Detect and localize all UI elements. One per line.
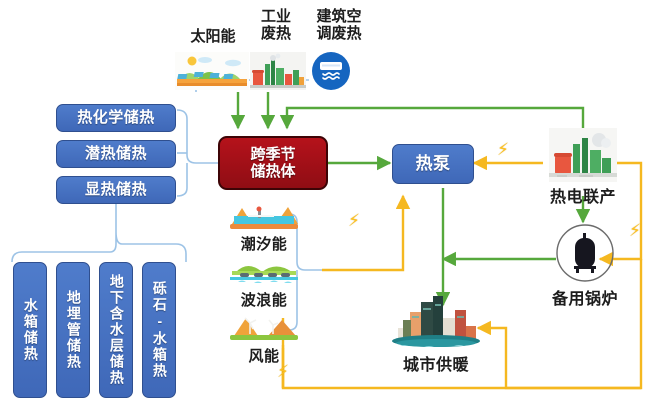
boiler-tank-icon [550,222,620,284]
seasonal-storage-line2: 储热体 [250,163,295,180]
source-label-solar: 太阳能 [176,29,250,46]
electricity-bolt-chp-heatpump: ⚡ [497,141,509,158]
building-label-line1: 建筑空 [305,9,373,26]
building-label-line2: 调废热 [305,26,373,43]
seasonal-storage-box[interactable]: 跨季节 储热体 [218,136,328,190]
electricity-bolt-bottom-loop: ⚡ [277,363,289,380]
renewable-wave[interactable]: 波浪能 [226,258,302,310]
renewable-wind-label: 风能 [248,345,279,366]
storage-method-box-1[interactable]: 地埋管储热 [56,262,90,398]
chp-plant-icon [549,128,617,182]
city-skyline-icon [384,292,488,350]
heat-pump-box[interactable]: 热泵 [392,144,474,184]
air-conditioner-icon [309,50,353,92]
factory-icon [250,52,306,90]
wind-energy-icon [228,314,300,344]
storage-method-box-3[interactable]: 砾石-水箱热 [142,262,176,398]
city-heating[interactable]: 城市供暖 [381,292,491,375]
chp-plant[interactable]: 热电联产 [543,128,623,207]
storage-type-box-0[interactable]: 热化学储热 [56,104,176,132]
source-label-building: 建筑空 调废热 [305,9,373,42]
source-label-industrial: 工业 废热 [248,9,304,42]
storage-method-box-0[interactable]: 水箱储热 [13,262,47,398]
renewable-tidal[interactable]: 潮汐能 [226,202,302,254]
storage-method-box-2[interactable]: 地下含水层储热 [99,262,133,398]
backup-boiler-label: 备用锅炉 [552,285,618,309]
seasonal-storage-line1: 跨季节 [250,146,295,163]
storage-type-box-2[interactable]: 显热储热 [56,176,176,204]
tidal-energy-icon [228,202,300,232]
city-heating-label: 城市供暖 [403,351,469,375]
chp-plant-label: 热电联产 [550,183,616,207]
solar-label-text: 太阳能 [190,28,235,45]
renewable-tidal-label: 潮汐能 [241,233,288,254]
wave-energy-icon [228,258,300,288]
renewable-wind[interactable]: 风能 [226,314,302,366]
industrial-label-line1: 工业 [248,9,304,26]
industrial-label-line2: 废热 [248,26,304,43]
diagram-canvas: 太阳能 工业 废热 建筑空 调废热 [0,0,659,404]
renewable-wave-label: 波浪能 [241,289,288,310]
solar-landscape-icon [175,52,249,90]
backup-boiler[interactable]: 备用锅炉 [547,222,623,309]
electricity-bolt-right-edge: ⚡ [629,222,641,239]
storage-type-box-1[interactable]: 潜热储热 [56,140,176,168]
electricity-bolt-renewables: ⚡ [348,212,360,229]
